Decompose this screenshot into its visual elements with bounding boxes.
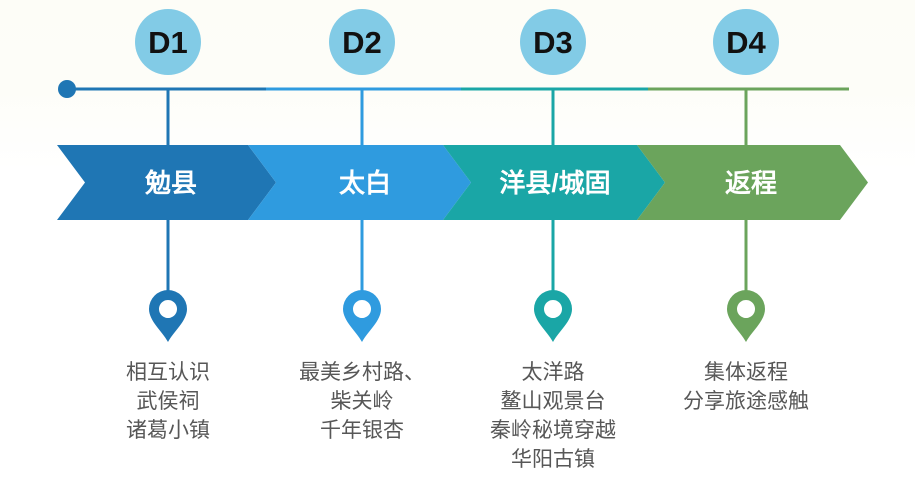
stage-badge-d4[interactable] [713,9,779,75]
chevron-label-d4: 返程 [656,170,846,196]
chevron-label-d3: 洋县/城固 [460,170,650,196]
stage-badge-d3[interactable] [520,9,586,75]
timeline-axis [58,80,849,98]
connector-stems-upper [168,89,746,146]
detail-line: 最美乡村路、 [252,358,472,387]
detail-line: 柴关岭 [252,387,472,416]
stage-details-d2: 最美乡村路、 柴关岭 千年银杏 [252,358,472,445]
stage-details-d1: 相互认识 武侯祠 诸葛小镇 [58,358,278,445]
detail-line: 分享旅途感触 [636,387,856,416]
detail-line: 鳌山观景台 [443,387,663,416]
stage-badge-d2[interactable] [329,9,395,75]
detail-line: 集体返程 [636,358,856,387]
map-pin-icon-d2[interactable] [343,290,381,342]
connector-stems-lower [168,220,746,296]
map-pin-markers [149,290,765,342]
stage-details-d4: 集体返程 分享旅途感触 [636,358,856,416]
map-pin-icon-d4[interactable] [727,290,765,342]
map-pin-icon-d3[interactable] [534,290,572,342]
chevron-label-d1: 勉县 [76,170,266,196]
stage-badge-d1[interactable] [135,9,201,75]
map-pin-icon-d1[interactable] [149,290,187,342]
timeline-diagram: D1 D2 D3 D4 勉县 太白 洋县/城固 返程 相互认识 武侯祠 诸葛小镇… [0,0,915,484]
detail-line: 千年银杏 [252,416,472,445]
detail-line: 相互认识 [58,358,278,387]
stage-details-d3: 太洋路 鳌山观景台 秦岭秘境穿越 华阳古镇 [443,358,663,474]
detail-line: 诸葛小镇 [58,416,278,445]
detail-line: 秦岭秘境穿越 [443,416,663,445]
detail-line: 武侯祠 [58,387,278,416]
detail-line: 太洋路 [443,358,663,387]
chevron-label-d2: 太白 [270,170,460,196]
detail-line: 华阳古镇 [443,445,663,474]
stage-badges [135,9,779,75]
